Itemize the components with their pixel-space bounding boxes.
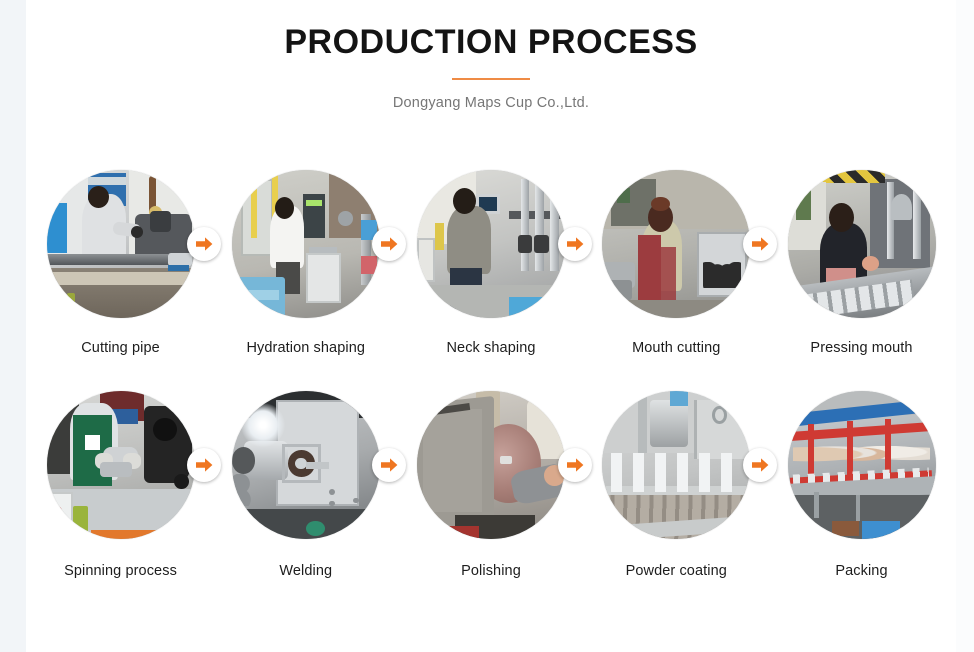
step-photo-welding — [232, 391, 380, 539]
process-step-pressing-mouth[interactable]: Pressing mouth — [779, 170, 944, 356]
process-step-neck-shaping[interactable]: Neck shaping — [409, 170, 574, 356]
process-step-polishing[interactable]: Polishing — [409, 391, 574, 579]
title-divider — [452, 78, 530, 80]
step-photo-mouth-cutting — [602, 170, 750, 318]
process-step-powder-coating[interactable]: Powder coating — [594, 391, 759, 579]
step-photo-cutting-pipe — [47, 170, 195, 318]
process-step-welding[interactable]: Welding — [223, 391, 388, 579]
arrow-right-icon — [372, 448, 406, 482]
arrow-right-icon — [187, 227, 221, 261]
arrow-right-icon — [187, 448, 221, 482]
arrow-right-icon — [743, 227, 777, 261]
step-label: Mouth cutting — [632, 340, 720, 356]
step-label: Cutting pipe — [81, 340, 160, 356]
step-photo-pressing-mouth — [788, 170, 936, 318]
process-step-packing[interactable]: Packing — [779, 391, 944, 579]
arrow-right-icon — [558, 448, 592, 482]
step-label: Powder coating — [626, 563, 727, 579]
content-canvas: PRODUCTION PROCESS Dongyang Maps Cup Co.… — [26, 0, 956, 652]
process-step-spinning-process[interactable]: Spinning process — [38, 391, 203, 579]
step-photo-neck-shaping — [417, 170, 565, 318]
process-row-2: Spinning process — [26, 391, 956, 579]
header: PRODUCTION PROCESS Dongyang Maps Cup Co.… — [26, 0, 956, 111]
arrow-right-icon — [558, 227, 592, 261]
process-step-cutting-pipe[interactable]: Cutting pipe — [38, 170, 203, 356]
process-step-mouth-cutting[interactable]: Mouth cutting — [594, 170, 759, 356]
step-photo-spinning-process — [47, 391, 195, 539]
step-label: Polishing — [461, 563, 521, 579]
step-label: Spinning process — [64, 563, 177, 579]
step-label: Pressing mouth — [810, 340, 912, 356]
infographic-page: PRODUCTION PROCESS Dongyang Maps Cup Co.… — [0, 0, 974, 652]
arrow-right-icon — [743, 448, 777, 482]
arrow-right-icon — [372, 227, 406, 261]
step-photo-hydration-shaping — [232, 170, 380, 318]
process-step-hydration-shaping[interactable]: Hydration shaping — [223, 170, 388, 356]
step-photo-polishing — [417, 391, 565, 539]
step-label: Packing — [835, 563, 887, 579]
step-label: Hydration shaping — [246, 340, 365, 356]
step-photo-packing — [788, 391, 936, 539]
process-row-1: Cutting pipe — [26, 170, 956, 356]
step-label: Neck shaping — [446, 340, 535, 356]
step-photo-powder-coating — [602, 391, 750, 539]
step-label: Welding — [279, 563, 332, 579]
page-title: PRODUCTION PROCESS — [26, 20, 956, 64]
company-subtitle: Dongyang Maps Cup Co.,Ltd. — [26, 95, 956, 111]
